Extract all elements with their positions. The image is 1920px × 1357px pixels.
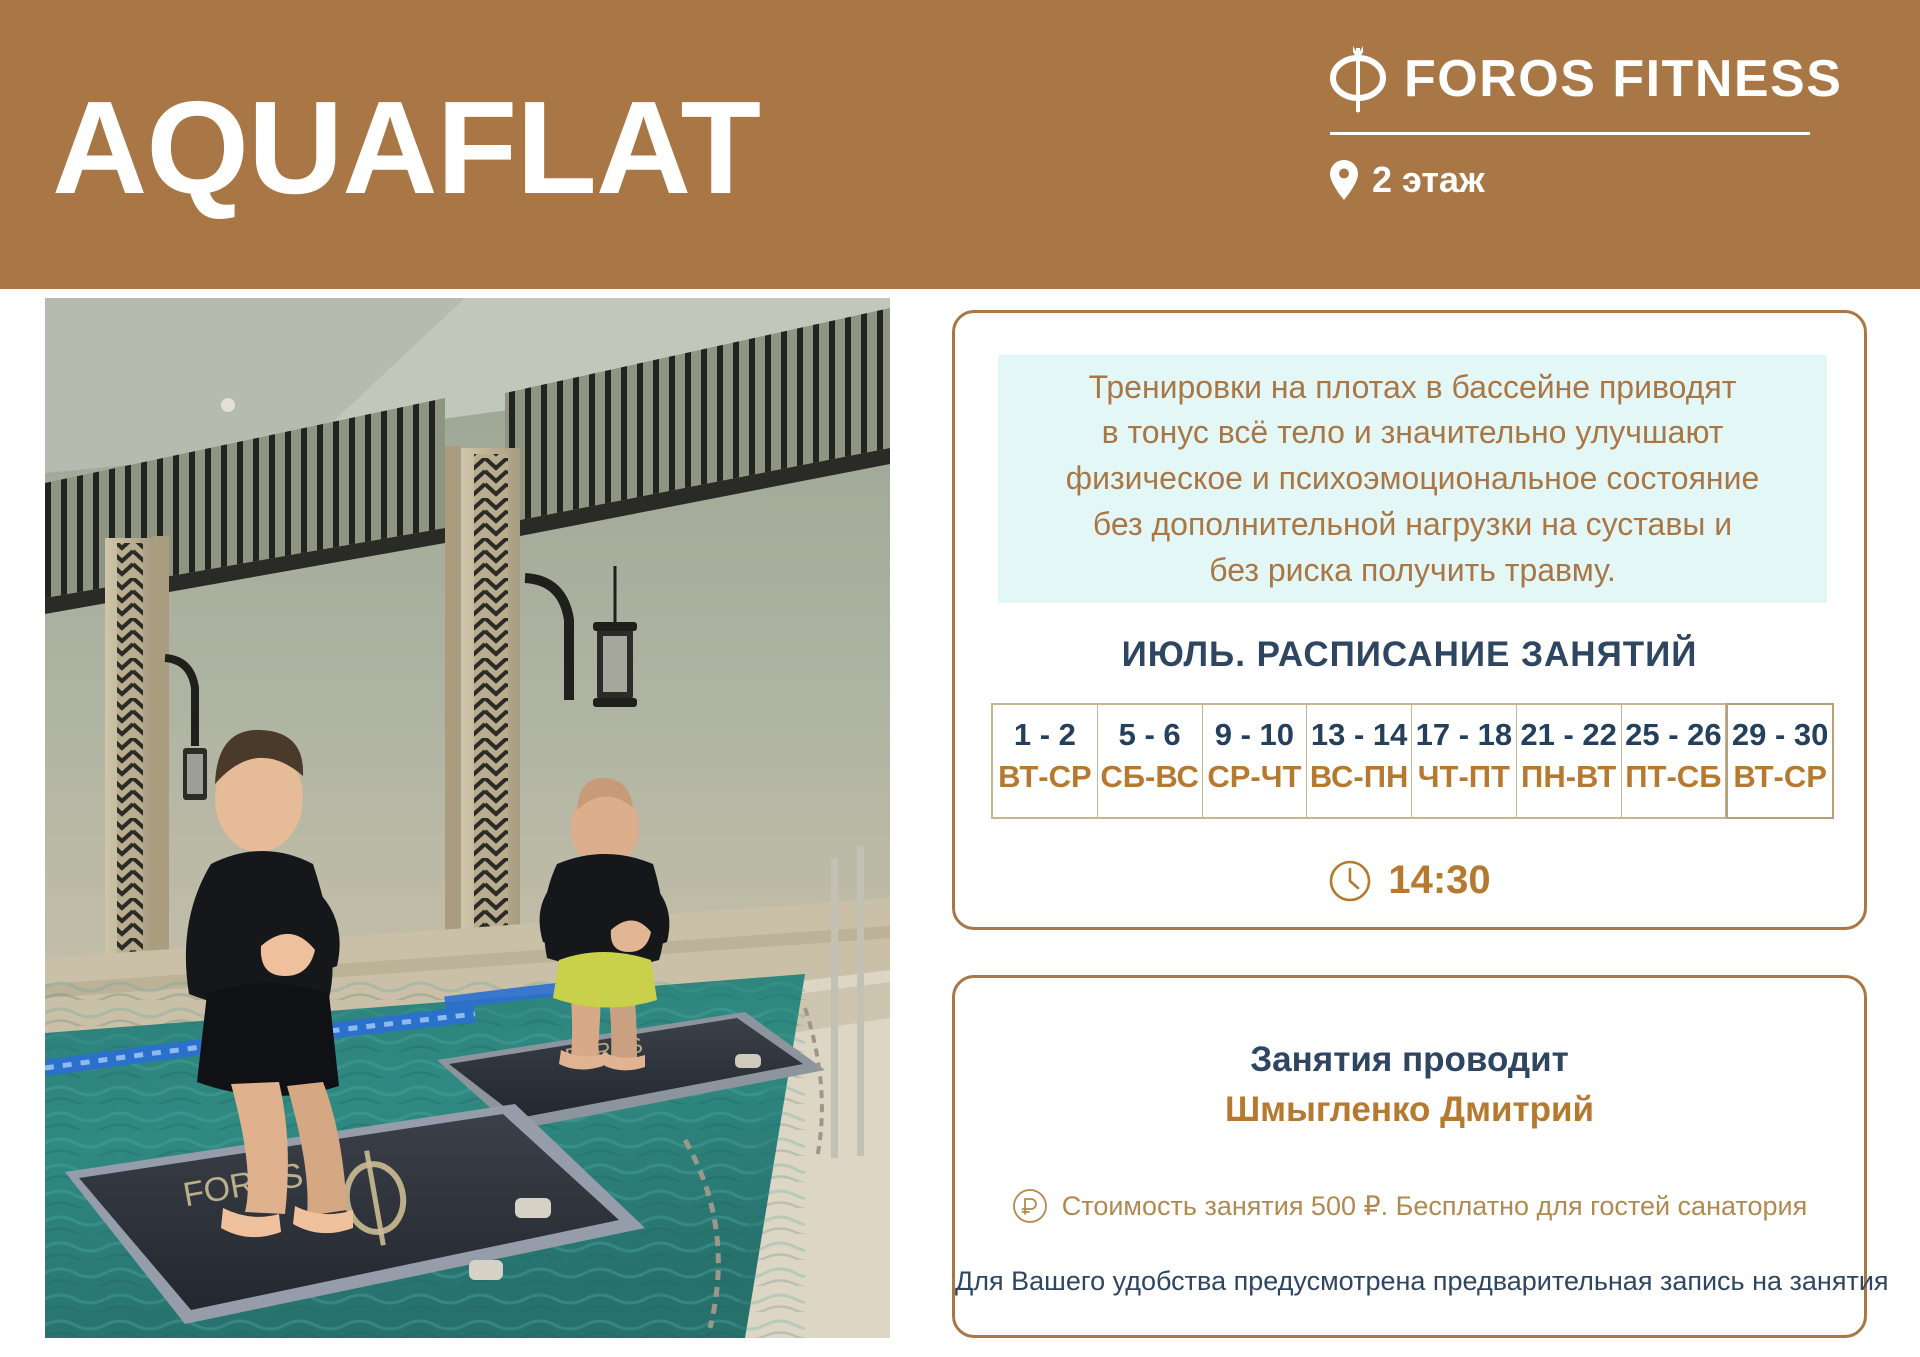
map-pin-icon xyxy=(1330,160,1358,200)
schedule-column: 9 - 10СР-ЧТ xyxy=(1203,705,1308,817)
pool-training-photo: FOROS xyxy=(45,298,890,1338)
schedule-weekdays: ВТ-СР xyxy=(1730,759,1830,795)
schedule-column: 25 - 26ПТ-СБ xyxy=(1622,705,1727,817)
schedule-weekdays: ВТ-СР xyxy=(995,759,1095,795)
schedule-dates: 5 - 6 xyxy=(1100,717,1200,753)
schedule-column: 13 - 14ВС-ПН xyxy=(1307,705,1412,817)
brand-block: FOROS FITNESS 2 этаж xyxy=(1330,42,1810,201)
schedule-weekdays: ПТ-СБ xyxy=(1624,759,1724,795)
schedule-table: 1 - 2ВТ-СР5 - 6СБ-ВС9 - 10СР-ЧТ13 - 14ВС… xyxy=(991,703,1834,819)
header-band: AQUAFLAT FOROS FITNESS xyxy=(0,0,1920,289)
schedule-weekdays: СР-ЧТ xyxy=(1205,759,1305,795)
schedule-dates: 21 - 22 xyxy=(1519,717,1619,753)
schedule-dates: 9 - 10 xyxy=(1205,717,1305,753)
poster-root: AQUAFLAT FOROS FITNESS xyxy=(0,0,1920,1357)
intro-text: Тренировки на плотах в бассейне приводят… xyxy=(1052,365,1773,594)
page-title: AQUAFLAT xyxy=(52,82,760,214)
schedule-dates: 29 - 30 xyxy=(1730,717,1830,753)
schedule-dates: 13 - 14 xyxy=(1309,717,1409,753)
schedule-column: 21 - 22ПН-ВТ xyxy=(1517,705,1622,817)
brand-divider xyxy=(1330,132,1810,135)
intro-box: Тренировки на плотах в бассейне приводят… xyxy=(998,355,1827,603)
schedule-dates: 17 - 18 xyxy=(1414,717,1514,753)
schedule-weekdays: ЧТ-ПТ xyxy=(1414,759,1514,795)
schedule-column: 17 - 18ЧТ-ПТ xyxy=(1412,705,1517,817)
schedule-card: Тренировки на плотах в бассейне приводят… xyxy=(952,310,1867,930)
brand-row: FOROS FITNESS xyxy=(1330,42,1810,116)
schedule-weekdays: СБ-ВС xyxy=(1100,759,1200,795)
class-time-row: 14:30 xyxy=(955,858,1864,903)
foros-phi-logo-icon xyxy=(1330,42,1386,116)
brand-name: FOROS FITNESS xyxy=(1404,49,1842,109)
schedule-weekdays: ВС-ПН xyxy=(1309,759,1409,795)
schedule-column: 29 - 30ВТ-СР xyxy=(1726,703,1834,819)
schedule-column: 5 - 6СБ-ВС xyxy=(1098,705,1203,817)
schedule-column: 1 - 2ВТ-СР xyxy=(993,705,1098,817)
schedule-heading: ИЮЛЬ. РАСПИСАНИЕ ЗАНЯТИЙ xyxy=(955,635,1864,675)
trainer-card: Занятия проводит Шмыгленко Дмитрий Стоим… xyxy=(952,975,1867,1338)
trainer-name: Шмыгленко Дмитрий xyxy=(955,1090,1864,1130)
floor-row: 2 этаж xyxy=(1330,159,1810,201)
price-text: Стоимость занятия 500 ₽. Бесплатно для г… xyxy=(1062,1191,1807,1222)
trainer-lead-label: Занятия проводит xyxy=(955,1040,1864,1080)
schedule-weekdays: ПН-ВТ xyxy=(1519,759,1619,795)
price-row: Стоимость занятия 500 ₽. Бесплатно для г… xyxy=(955,1188,1864,1224)
schedule-dates: 25 - 26 xyxy=(1624,717,1724,753)
schedule-dates: 1 - 2 xyxy=(995,717,1095,753)
class-time: 14:30 xyxy=(1388,858,1490,903)
clock-icon xyxy=(1328,859,1372,903)
floor-label: 2 этаж xyxy=(1372,159,1485,201)
booking-note: Для Вашего удобства предусмотрена предва… xyxy=(955,1266,1864,1297)
ruble-currency-icon xyxy=(1012,1188,1048,1224)
